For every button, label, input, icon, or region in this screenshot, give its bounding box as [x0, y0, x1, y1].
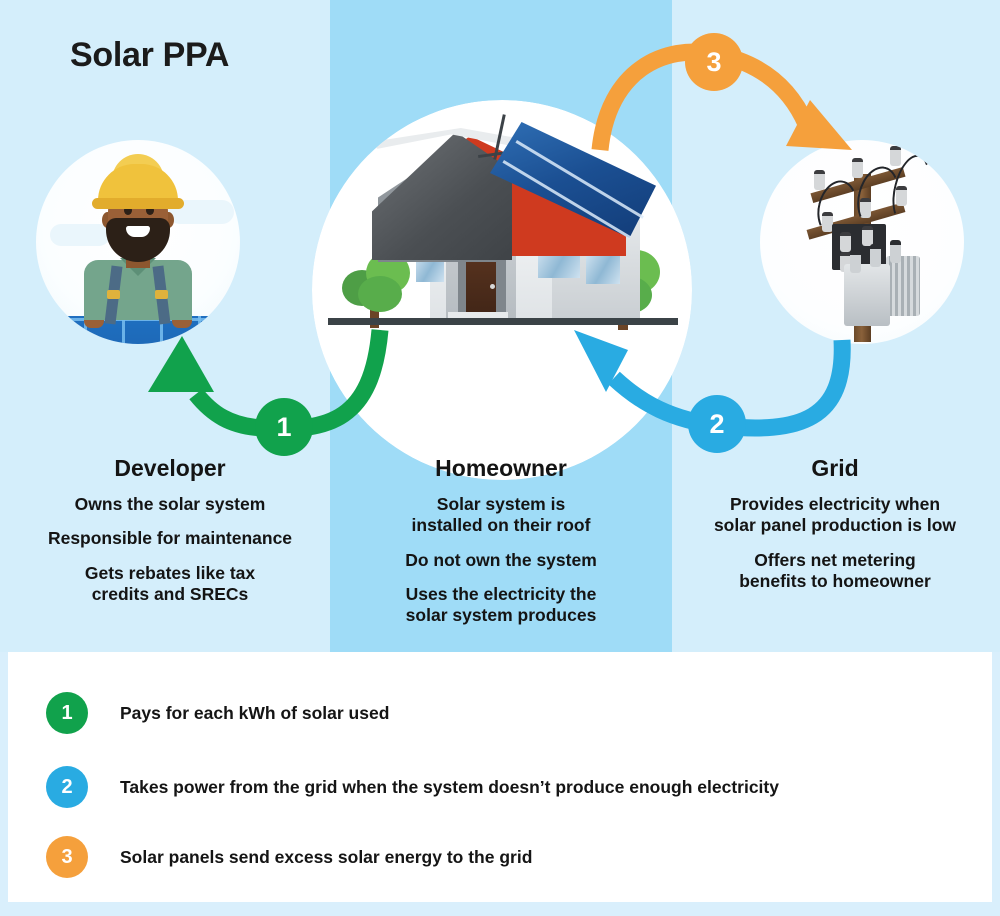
- legend-badge-1: 1: [46, 692, 88, 734]
- flow-arrow-1-head: [148, 336, 214, 392]
- column-line: Gets rebates like tax credits and SRECs: [20, 563, 320, 606]
- flow-badge-1: 1: [255, 398, 313, 456]
- column-heading-grid: Grid: [685, 455, 985, 482]
- column-developer: Developer Owns the solar system Responsi…: [20, 455, 320, 618]
- infographic-root: Solar PPA: [0, 0, 1000, 916]
- column-line: Provides electricity when solar panel pr…: [685, 494, 985, 537]
- column-line: Do not own the system: [350, 550, 652, 571]
- legend-text-2: Takes power from the grid when the syste…: [120, 777, 779, 798]
- column-homeowner: Homeowner Solar system is installed on t…: [350, 455, 652, 640]
- flow-badge-3: 3: [685, 33, 743, 91]
- column-line: Offers net metering benefits to homeowne…: [685, 550, 985, 593]
- column-heading-developer: Developer: [20, 455, 320, 482]
- column-line: Solar system is installed on their roof: [350, 494, 652, 537]
- column-line: Uses the electricity the solar system pr…: [350, 584, 652, 627]
- column-line: Owns the solar system: [20, 494, 320, 515]
- legend-item-1: 1 Pays for each kWh of solar used: [46, 692, 389, 734]
- column-heading-homeowner: Homeowner: [350, 455, 652, 482]
- flow-badge-2: 2: [688, 395, 746, 453]
- legend-badge-2: 2: [46, 766, 88, 808]
- legend-item-3: 3 Solar panels send excess solar energy …: [46, 836, 532, 878]
- column-grid: Grid Provides electricity when solar pan…: [685, 455, 985, 605]
- legend-item-2: 2 Takes power from the grid when the sys…: [46, 766, 779, 808]
- legend-text-3: Solar panels send excess solar energy to…: [120, 847, 532, 868]
- flow-arrow-1-path-b: [196, 394, 262, 428]
- legend-badge-3: 3: [46, 836, 88, 878]
- legend-text-1: Pays for each kWh of solar used: [120, 703, 389, 724]
- column-line: Responsible for maintenance: [20, 528, 320, 549]
